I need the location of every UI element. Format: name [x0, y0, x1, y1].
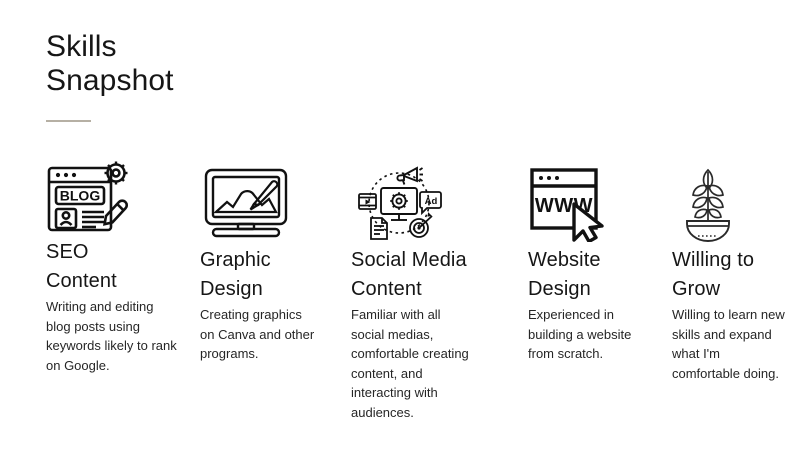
skill-description: Experienced in building a website from s…: [528, 304, 632, 364]
svg-text:Ad: Ad: [425, 196, 438, 207]
title-divider: [46, 120, 91, 122]
skill-description: Writing and editing blog posts using key…: [46, 296, 178, 375]
skill-heading: Social Media Content: [351, 246, 479, 304]
page-title: Skills Snapshot: [46, 30, 174, 98]
skill-item-social-media-content: Ad Social M: [351, 160, 479, 422]
monitor-landscape-paintbrush-icon: [200, 160, 324, 242]
blog-browser-gear-pencil-icon: BLOG: [46, 160, 178, 234]
skill-item-willing-to-grow: Willing to Grow Willing to learn new ski…: [672, 160, 794, 383]
skill-heading: Website Design: [528, 246, 646, 304]
skill-item-seo-content: BLOG: [46, 160, 178, 375]
browser-www-cursor-icon: WWW: [528, 160, 646, 242]
skill-description: Willing to learn new skills and expand w…: [672, 304, 790, 383]
skill-heading: SEO Content: [46, 238, 178, 296]
svg-text:BLOG: BLOG: [60, 188, 101, 204]
skill-item-graphic-design: Graphic Design Creating graphics on Canv…: [200, 160, 324, 364]
skill-heading: Willing to Grow: [672, 246, 794, 304]
page-header: Skills Snapshot: [46, 30, 174, 122]
monitor-gear-social-network-icon: Ad: [351, 160, 479, 242]
skill-description: Creating graphics on Canva and other pro…: [200, 304, 315, 364]
potted-plant-icon: [672, 160, 794, 242]
skill-item-website-design: WWW Website Design Experienced in buildi…: [528, 160, 646, 364]
skill-description: Familiar with all social medias, comfort…: [351, 304, 473, 422]
skill-heading: Graphic Design: [200, 246, 324, 304]
